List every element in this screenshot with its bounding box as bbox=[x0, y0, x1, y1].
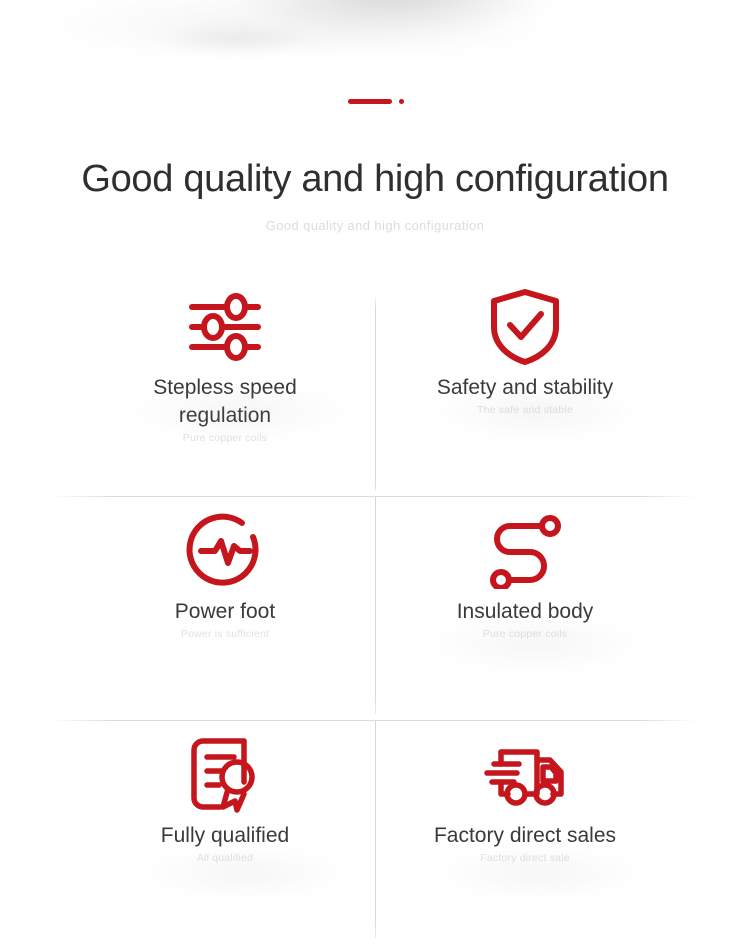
page-subtitle: Good quality and high configuration bbox=[0, 217, 750, 235]
certificate-award-icon bbox=[186, 732, 264, 818]
feature-subtitle: The safe and stable bbox=[477, 403, 573, 417]
top-gradient-bleed-secondary bbox=[120, 18, 350, 60]
feature-cell-safety-and-stability[interactable]: Safety and stability The safe and stable bbox=[375, 272, 675, 496]
feature-subtitle: Pure copper coils bbox=[183, 431, 268, 445]
feature-subtitle: Pure copper coils bbox=[483, 627, 568, 641]
page-title: Good quality and high configuration bbox=[0, 152, 750, 206]
feature-title: Power foot bbox=[175, 598, 275, 626]
feature-cell-power-foot[interactable]: Power foot Power is sufficient bbox=[75, 496, 375, 720]
feature-row-1: Stepless speed regulation Pure copper co… bbox=[75, 272, 675, 496]
shield-check-icon bbox=[487, 284, 563, 370]
feature-title: Safety and stability bbox=[437, 374, 613, 402]
feature-subtitle: Power is sufficient bbox=[181, 627, 269, 641]
grid-divider-vertical bbox=[375, 720, 376, 938]
feature-title: Fully qualified bbox=[161, 822, 289, 850]
red-dot-icon bbox=[399, 99, 404, 104]
feature-row-3: Fully qualified All qualified Facto bbox=[75, 720, 675, 944]
top-gradient-bleed bbox=[0, 0, 750, 50]
feature-cell-factory-direct-sales[interactable]: Factory direct sales Factory direct sale bbox=[375, 720, 675, 944]
pulse-circle-icon bbox=[184, 508, 266, 594]
red-bar-icon bbox=[348, 99, 392, 104]
sliders-settings-icon bbox=[186, 284, 264, 370]
feature-cell-stepless-speed-regulation[interactable]: Stepless speed regulation Pure copper co… bbox=[75, 272, 375, 496]
delivery-truck-icon bbox=[481, 732, 569, 818]
grid-divider-horizontal bbox=[53, 496, 697, 497]
feature-title: Stepless speed regulation bbox=[115, 374, 335, 430]
feature-subtitle: All qualified bbox=[197, 851, 253, 865]
feature-subtitle: Factory direct sale bbox=[480, 851, 570, 865]
header-decoration bbox=[0, 96, 750, 108]
feature-title: Factory direct sales bbox=[434, 822, 616, 850]
grid-divider-vertical bbox=[375, 496, 376, 714]
feature-title: Insulated body bbox=[457, 598, 594, 626]
feature-row-2: Power foot Power is sufficient Insulated… bbox=[75, 496, 675, 720]
feature-cell-insulated-body[interactable]: Insulated body Pure copper coils bbox=[375, 496, 675, 720]
grid-divider-vertical bbox=[375, 294, 376, 490]
insulated-cable-icon bbox=[484, 508, 566, 594]
feature-grid: Stepless speed regulation Pure copper co… bbox=[75, 272, 675, 944]
feature-cell-fully-qualified[interactable]: Fully qualified All qualified bbox=[75, 720, 375, 944]
grid-divider-horizontal bbox=[53, 720, 697, 721]
